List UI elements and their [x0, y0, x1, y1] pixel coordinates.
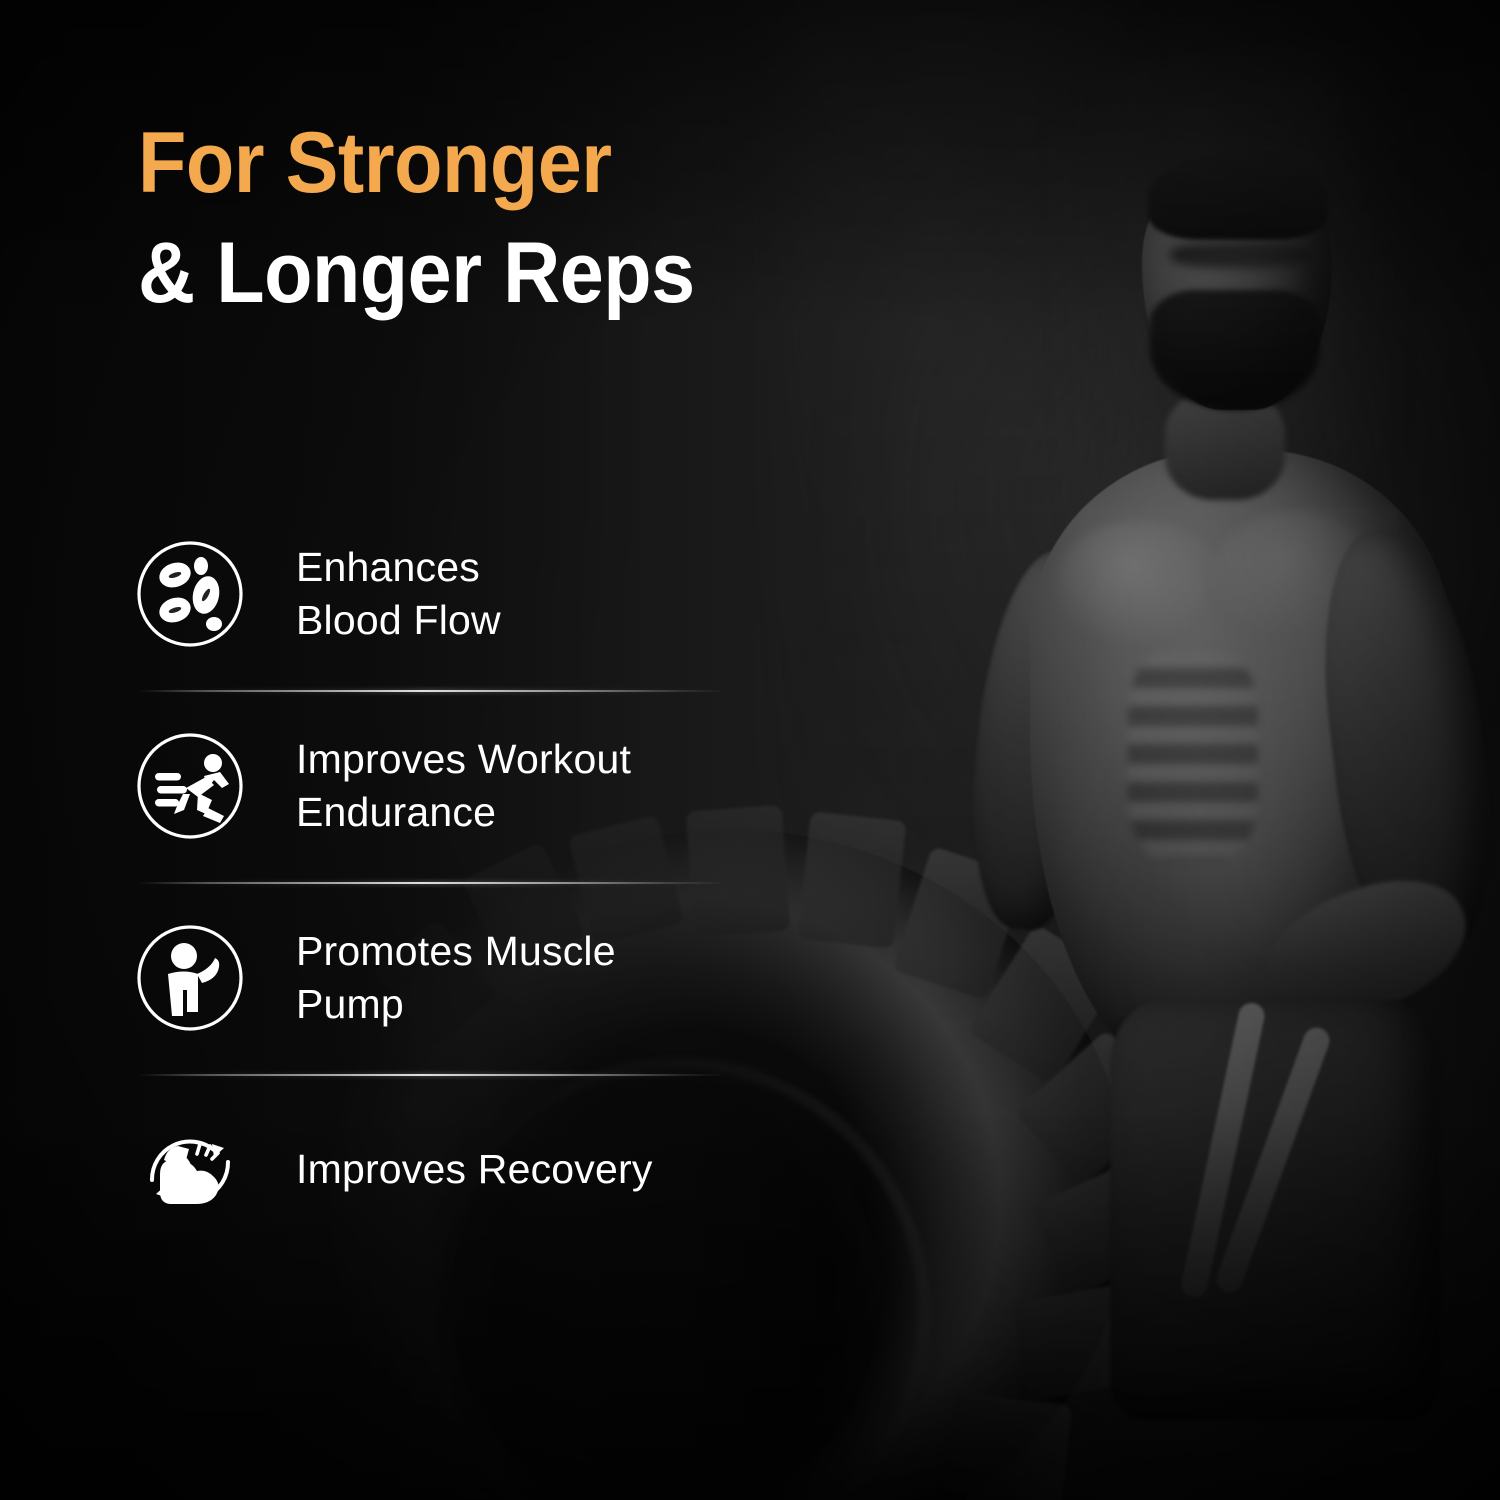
benefit-item-blood-flow: Enhances Blood Flow — [0, 498, 860, 690]
headline: For Stronger & Longer Reps — [138, 108, 968, 328]
benefits-list: Enhances Blood Flow — [0, 498, 860, 1266]
benefit-label: Improves Workout Endurance — [296, 733, 631, 840]
bicep-recovery-icon — [134, 1114, 246, 1226]
headline-line-2: & Longer Reps — [138, 218, 902, 328]
promo-banner: For Stronger & Longer Reps — [0, 0, 1500, 1500]
blood-cells-icon — [134, 538, 246, 650]
running-person-icon — [134, 730, 246, 842]
headline-line-1: For Stronger — [138, 108, 902, 218]
content-layer: For Stronger & Longer Reps — [0, 0, 1500, 1500]
benefit-label: Promotes Muscle Pump — [296, 925, 616, 1032]
benefit-label: Improves Recovery — [296, 1143, 653, 1196]
benefit-label: Enhances Blood Flow — [296, 541, 501, 648]
benefit-item-muscle-pump: Promotes Muscle Pump — [0, 882, 860, 1074]
flexing-person-icon — [134, 922, 246, 1034]
benefit-item-endurance: Improves Workout Endurance — [0, 690, 860, 882]
benefit-item-recovery: Improves Recovery — [0, 1074, 860, 1266]
